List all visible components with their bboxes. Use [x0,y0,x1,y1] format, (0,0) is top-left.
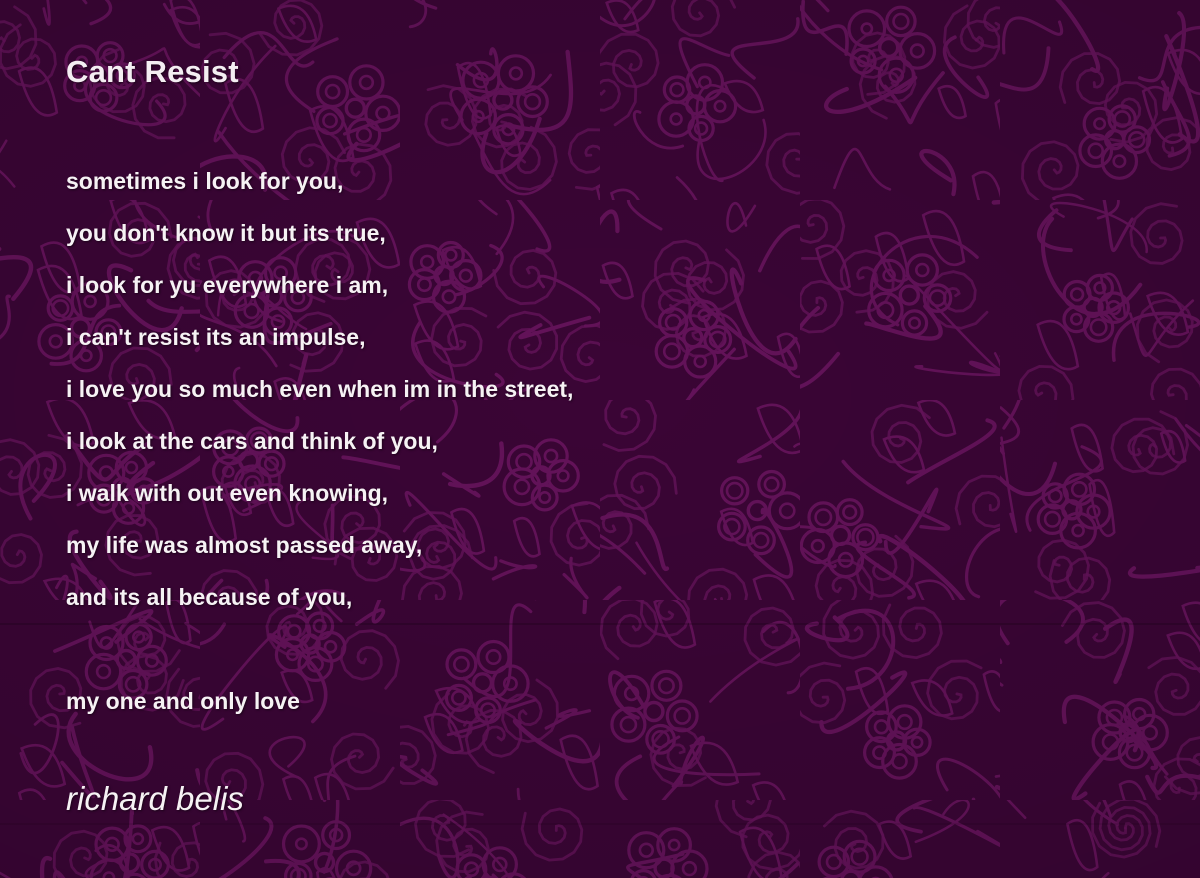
poem-line: my life was almost passed away, [66,519,1126,571]
poem-line: sometimes i look for you, [66,155,1126,207]
poem-line: and its all because of you, [66,571,1126,623]
poem-body: sometimes i look for you,you don't know … [66,155,1126,727]
poem-line: you don't know it but its true, [66,207,1126,259]
poem-author: richard belis [66,780,244,818]
poem-line-blank [66,623,1126,675]
poem-line: i look for yu everywhere i am, [66,259,1126,311]
poem-line: i walk with out even knowing, [66,467,1126,519]
poem-content: Cant Resist sometimes i look for you,you… [0,0,1200,878]
poem-title: Cant Resist [66,54,239,90]
poem-line: i love you so much even when im in the s… [66,363,1126,415]
poem-line: i look at the cars and think of you, [66,415,1126,467]
poem-line: i can't resist its an impulse, [66,311,1126,363]
poem-line: my one and only love [66,675,1126,727]
poem-page: Cant Resist sometimes i look for you,you… [0,0,1200,878]
